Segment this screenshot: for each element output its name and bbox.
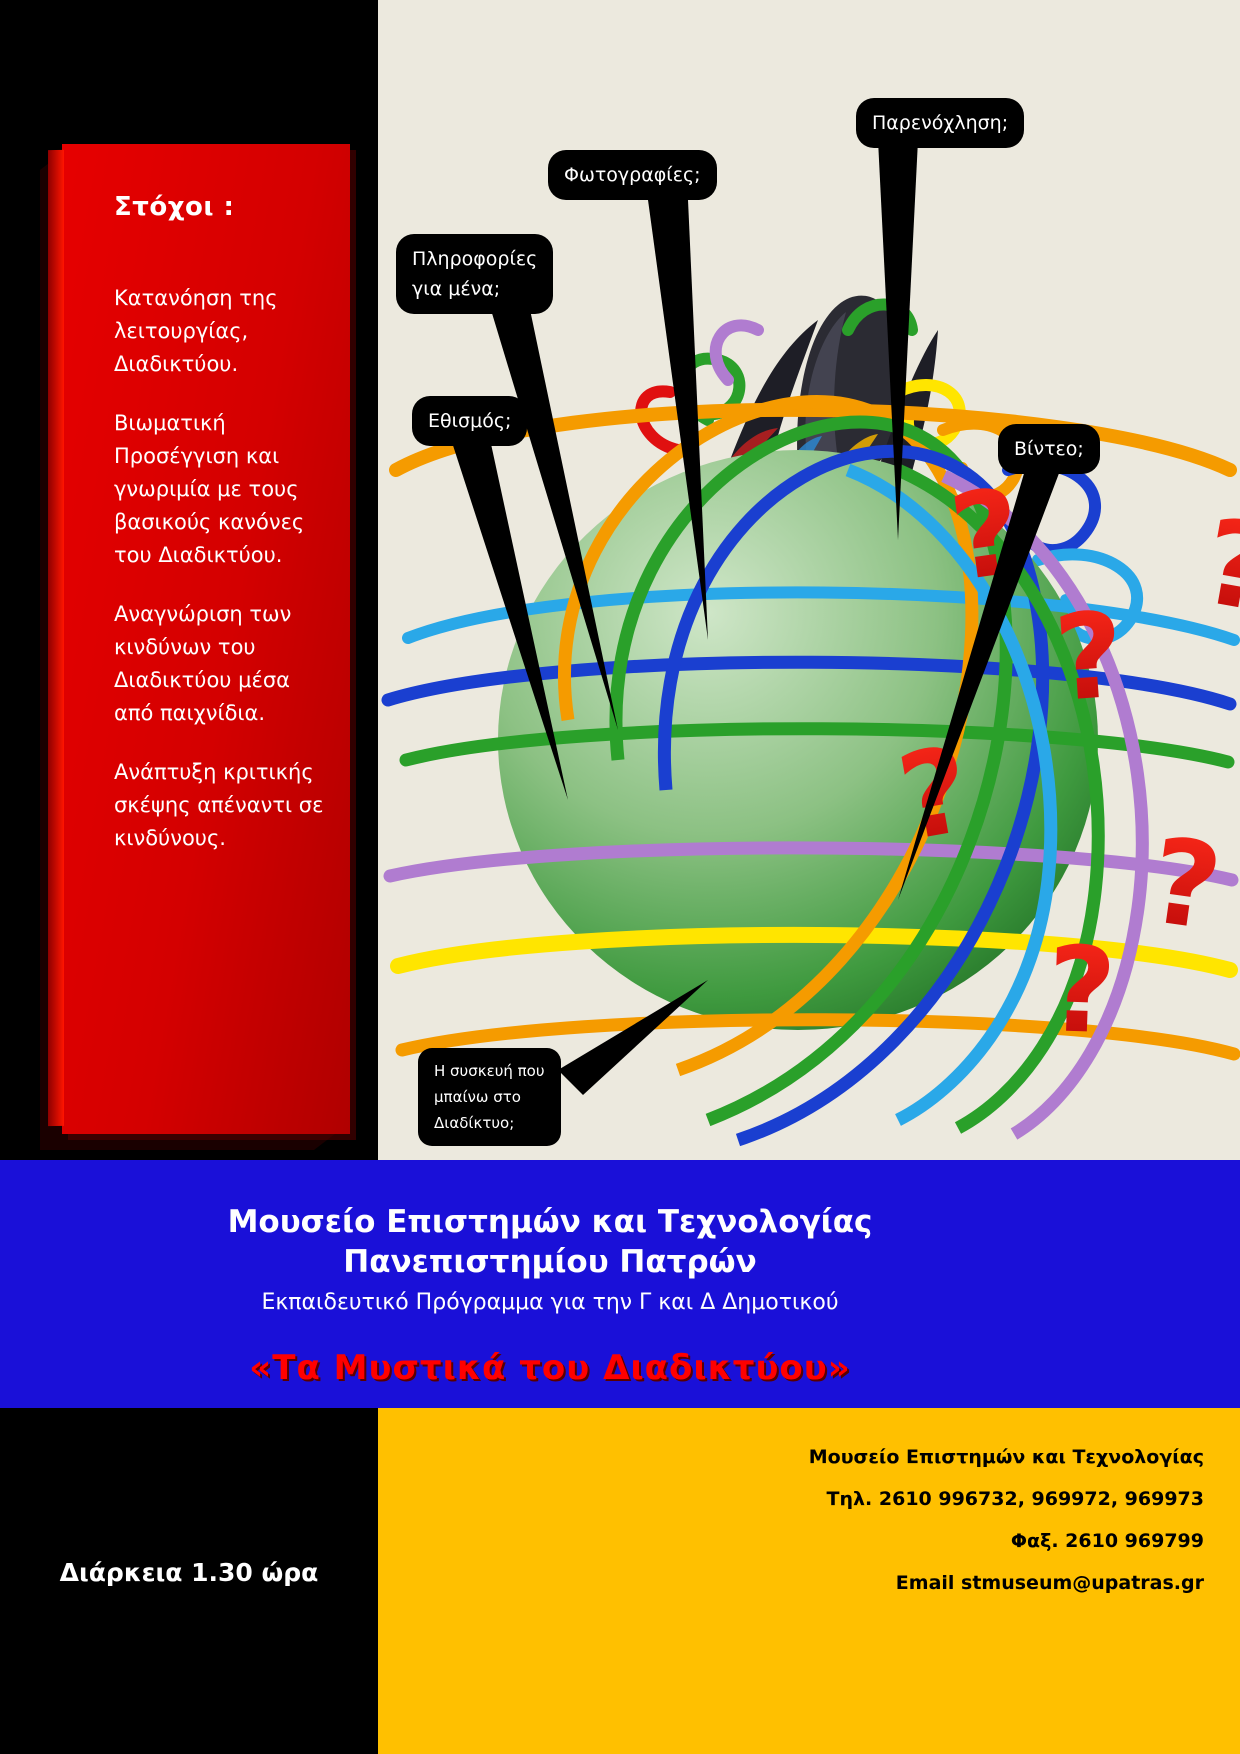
contact-fax: Φαξ. 2610 969799 xyxy=(444,1520,1204,1562)
contact-phone: Τηλ. 2610 996732, 969972, 969973 xyxy=(444,1478,1204,1520)
tail-vinteo xyxy=(898,460,1064,900)
tail-fotografies xyxy=(648,200,708,640)
bubble-syskevi[interactable]: Η συσκευή που μπαίνω στο Διαδίκτυο; xyxy=(418,1048,561,1146)
museum-title-line1: Μουσείο Επιστημών και Τεχνολογίας xyxy=(0,1202,1100,1242)
blue-footer-band: Μουσείο Επιστημών και Τεχνολογίας Πανεπι… xyxy=(0,1160,1240,1408)
objectives-title: Στόχοι : xyxy=(114,192,234,222)
duration-block: Διάρκεια 1.30 ώρα xyxy=(0,1408,378,1754)
contact-details: Μουσείο Επιστημών και Τεχνολογίας Τηλ. 2… xyxy=(444,1436,1204,1604)
bubble-plirofories[interactable]: Πληροφορίες για μένα; xyxy=(396,234,553,314)
contact-email[interactable]: Email stmuseum@upatras.gr xyxy=(444,1562,1204,1604)
program-subtitle: Εκπαιδευτικό Πρόγραμμα για την Γ και Δ Δ… xyxy=(0,1290,1100,1315)
contact-box: Μουσείο Επιστημών και Τεχνολογίας Τηλ. 2… xyxy=(378,1408,1240,1754)
tail-plirofories xyxy=(488,300,618,730)
tail-parenochlisi xyxy=(878,140,918,540)
objectives-panel: Στόχοι : Κατανόηση της λειτουργίας, Διαδ… xyxy=(62,144,350,1134)
museum-title-line2: Πανεπιστημίου Πατρών xyxy=(0,1242,1100,1282)
tail-syskevi xyxy=(558,980,708,1095)
illustration-stage: ? ? ? ? ? ? ? Εθισμός; Πληροφορίες για μ… xyxy=(378,0,1240,1160)
objective-item: Αναγνώριση των κινδύνων του Διαδικτύου μ… xyxy=(114,598,324,730)
poster-root: ? ? ? ? ? ? ? Εθισμός; Πληροφορίες για μ… xyxy=(0,0,1240,1754)
program-title: «Τα Μυστικά του Διαδικτύου» xyxy=(0,1348,1100,1388)
objectives-list: Κατανόηση της λειτουργίας, Διαδικτύου. Β… xyxy=(114,282,324,881)
bubble-tails xyxy=(378,0,1240,1160)
museum-title: Μουσείο Επιστημών και Τεχνολογίας Πανεπι… xyxy=(0,1202,1100,1282)
duration-label: Διάρκεια 1.30 ώρα xyxy=(0,1558,378,1587)
bubble-fotografies[interactable]: Φωτογραφίες; xyxy=(548,150,717,200)
objective-item: Κατανόηση της λειτουργίας, Διαδικτύου. xyxy=(114,282,324,381)
bubble-vinteo[interactable]: Βίντεο; xyxy=(998,424,1100,474)
contact-museum-name: Μουσείο Επιστημών και Τεχνολογίας xyxy=(444,1436,1204,1478)
bubble-ethismos[interactable]: Εθισμός; xyxy=(412,396,527,446)
objectives-panel-edge xyxy=(48,150,64,1126)
objective-item: Βιωματική Προσέγγιση και γνωριμία με του… xyxy=(114,407,324,572)
objective-item: Ανάπτυξη κριτικής σκέψης απέναντι σε κιν… xyxy=(114,756,324,855)
bubble-parenochlisi[interactable]: Παρενόχληση; xyxy=(856,98,1024,148)
